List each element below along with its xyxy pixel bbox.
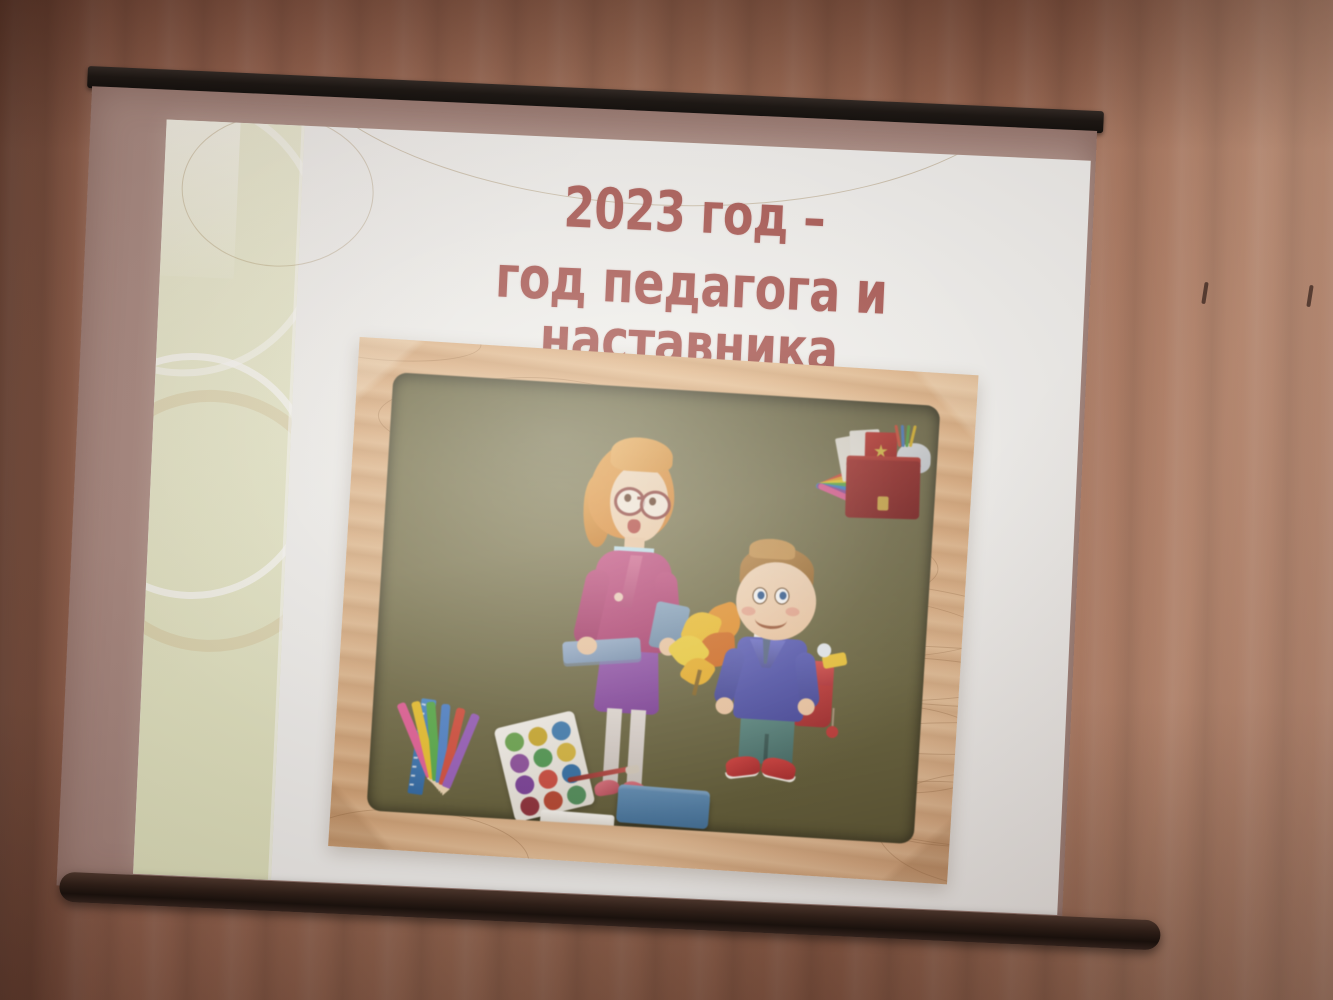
paint-well	[550, 719, 573, 742]
teacher-glasses-bridge	[637, 496, 643, 499]
band-arc-upper	[133, 120, 304, 383]
briefcase-lock	[877, 496, 888, 510]
projection-screen: 2023 год – год педагога и наставника	[50, 66, 1199, 975]
paint-well	[565, 784, 588, 807]
slide-title-line-1: 2023 год –	[347, 170, 1041, 258]
paint-well	[526, 725, 549, 748]
chalkboard-surface	[366, 372, 940, 844]
paint-well	[508, 752, 531, 775]
screenshot-root: 2023 год – год педагога и наставника	[0, 0, 1333, 1000]
teacher-held-books	[562, 637, 641, 664]
paint-well	[537, 768, 560, 791]
paint-well	[513, 773, 536, 796]
paint-well	[532, 746, 555, 769]
paint-well	[555, 741, 578, 764]
backpack-keychain	[826, 726, 839, 739]
projected-slide: 2023 год – год педагога и наставника	[133, 120, 1091, 915]
boy-hair-tuft	[749, 538, 796, 561]
watercolor-palette	[493, 710, 595, 822]
paint-wells	[493, 710, 573, 729]
briefcase-pens	[893, 425, 916, 448]
board-eraser	[616, 788, 710, 829]
paintbrush-tip	[625, 765, 640, 775]
paint-well	[518, 795, 541, 818]
boy-hand-left	[715, 697, 734, 715]
slide-decorative-band	[133, 120, 304, 880]
chalkboard-illustration	[328, 337, 978, 884]
screen-surface: 2023 год – год педагога и наставника	[57, 86, 1098, 930]
paint-well	[503, 731, 526, 754]
briefcase-group	[815, 425, 937, 522]
paint-well	[542, 789, 565, 812]
schoolboy-figure	[704, 543, 860, 811]
teacher-hair-top	[610, 436, 674, 474]
